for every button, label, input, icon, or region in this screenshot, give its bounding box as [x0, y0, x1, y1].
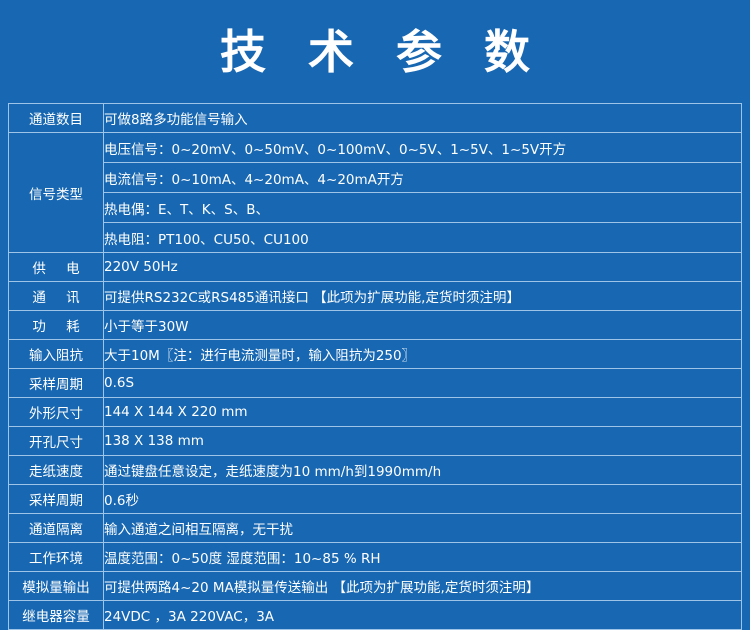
row-subvalue: 热电偶：E、T、K、S、B、 [104, 193, 742, 223]
row-value: 24VDC ，3A 220VAC，3A [104, 601, 742, 630]
spec-table-body: 通道数目 可做8路多功能信号输入 信号类型 电压信号：0~20mV、0~50mV… [9, 104, 742, 630]
row-value: 可做8路多功能信号输入 [104, 104, 742, 133]
row-value: 输入通道之间相互隔离，无干扰 [104, 514, 742, 543]
spec-sheet-page: 技 术 参 数 通道数目 可做8路多功能信号输入 信号类型 电压信号：0~20m… [0, 0, 750, 622]
table-row: 模拟量输出 可提供两路4~20 MA模拟量传送输出 【此项为扩展功能,定货时须注… [9, 572, 742, 601]
row-value: 220V 50Hz [104, 253, 742, 282]
row-subvalue: 热电阻：PT100、CU50、CU100 [104, 223, 742, 253]
row-label: 通 讯 [9, 282, 104, 311]
row-label: 继电器容量 [9, 601, 104, 630]
row-label-text: 采样周期 [9, 489, 103, 509]
table-row: 供 电 220V 50Hz [9, 253, 742, 282]
row-label-text: 通道隔离 [9, 518, 103, 538]
row-subvalue: 电压信号：0~20mV、0~50mV、0~100mV、0~5V、1~5V、1~5… [104, 133, 742, 163]
row-label-text: 通道数目 [9, 108, 103, 128]
row-label: 外形尺寸 [9, 398, 104, 427]
table-row: 热电阻：PT100、CU50、CU100 [9, 223, 742, 253]
row-value: 138 X 138 mm [104, 427, 742, 456]
table-row: 外形尺寸 144 X 144 X 220 mm [9, 398, 742, 427]
row-value: 温度范围：0~50度 湿度范围：10~85 % RH [104, 543, 742, 572]
row-value: 0.6秒 [104, 485, 742, 514]
row-label: 采样周期 [9, 369, 104, 398]
table-row: 热电偶：E、T、K、S、B、 [9, 193, 742, 223]
row-value: 可提供两路4~20 MA模拟量传送输出 【此项为扩展功能,定货时须注明】 [104, 572, 742, 601]
row-label: 开孔尺寸 [9, 427, 104, 456]
table-row: 通 讯 可提供RS232C或RS485通讯接口 【此项为扩展功能,定货时须注明】 [9, 282, 742, 311]
table-row: 走纸速度 通过键盘任意设定，走纸速度为10 mm/h到1990mm/h [9, 456, 742, 485]
row-label: 信号类型 [9, 133, 104, 253]
table-row: 采样周期 0.6S [9, 369, 742, 398]
row-label: 输入阻抗 [9, 340, 104, 369]
table-row: 继电器容量 24VDC ，3A 220VAC，3A [9, 601, 742, 630]
page-title: 技 术 参 数 [207, 29, 543, 75]
table-row: 输入阻抗 大于10M〖注：进行电流测量时，输入阻抗为250〗 [9, 340, 742, 369]
row-label-text: 输入阻抗 [9, 344, 103, 364]
row-label-text: 工作环境 [9, 547, 103, 567]
row-label-text: 外形尺寸 [9, 402, 103, 422]
row-value: 通过键盘任意设定，走纸速度为10 mm/h到1990mm/h [104, 456, 742, 485]
row-label: 走纸速度 [9, 456, 104, 485]
row-value: 大于10M〖注：进行电流测量时，输入阻抗为250〗 [104, 340, 742, 369]
row-value: 144 X 144 X 220 mm [104, 398, 742, 427]
row-label: 模拟量输出 [9, 572, 104, 601]
table-row: 信号类型 电压信号：0~20mV、0~50mV、0~100mV、0~5V、1~5… [9, 133, 742, 163]
row-label-text: 继电器容量 [9, 605, 103, 625]
row-label-text: 信号类型 [9, 183, 103, 203]
table-row: 开孔尺寸 138 X 138 mm [9, 427, 742, 456]
row-label: 供 电 [9, 253, 104, 282]
table-row: 采样周期 0.6秒 [9, 485, 742, 514]
table-row: 通道数目 可做8路多功能信号输入 [9, 104, 742, 133]
table-row: 通道隔离 输入通道之间相互隔离，无干扰 [9, 514, 742, 543]
row-label: 采样周期 [9, 485, 104, 514]
table-row: 工作环境 温度范围：0~50度 湿度范围：10~85 % RH [9, 543, 742, 572]
row-value: 小于等于30W [104, 311, 742, 340]
spec-table: 通道数目 可做8路多功能信号输入 信号类型 电压信号：0~20mV、0~50mV… [8, 103, 742, 630]
row-value: 可提供RS232C或RS485通讯接口 【此项为扩展功能,定货时须注明】 [104, 282, 742, 311]
page-header: 技 术 参 数 [0, 0, 750, 103]
row-label-text: 采样周期 [9, 373, 103, 393]
row-label-text: 通 讯 [9, 286, 103, 306]
row-label-text: 走纸速度 [9, 460, 103, 480]
row-value: 0.6S [104, 369, 742, 398]
row-label-text: 开孔尺寸 [9, 431, 103, 451]
row-label-text: 功 耗 [9, 315, 103, 335]
table-row: 功 耗 小于等于30W [9, 311, 742, 340]
row-label: 工作环境 [9, 543, 104, 572]
row-label: 通道数目 [9, 104, 104, 133]
row-label-text: 模拟量输出 [9, 576, 103, 596]
row-label-text: 供 电 [9, 257, 103, 277]
row-label: 功 耗 [9, 311, 104, 340]
table-row: 电流信号：0~10mA、4~20mA、4~20mA开方 [9, 163, 742, 193]
row-subvalue: 电流信号：0~10mA、4~20mA、4~20mA开方 [104, 163, 742, 193]
row-label: 通道隔离 [9, 514, 104, 543]
